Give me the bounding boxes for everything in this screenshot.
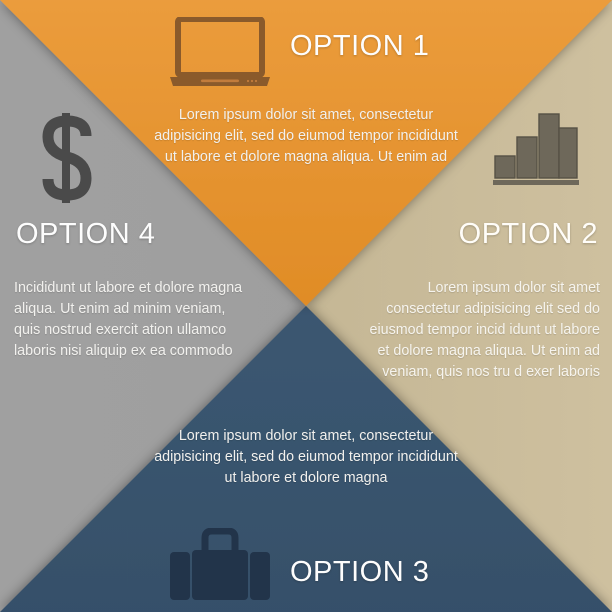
- option-3-title: OPTION 3: [290, 556, 429, 589]
- option-2-title: OPTION 2: [459, 218, 598, 251]
- option-3-body: Lorem ipsum dolor sit amet, consectetur …: [150, 426, 462, 489]
- option-1-title: OPTION 1: [290, 30, 429, 63]
- option-4-body: Incididunt ut labore et dolore magna ali…: [14, 278, 250, 362]
- option-3-panel[interactable]: Lorem ipsum dolor sit amet, consectetur …: [0, 412, 612, 612]
- laptop-icon: [168, 17, 272, 89]
- option-4-title: OPTION 4: [16, 218, 155, 251]
- bar-chart-icon: [493, 110, 579, 186]
- option-2-body: Lorem ipsum dolor sit amet consectetur a…: [364, 278, 600, 383]
- briefcase-icon: [168, 528, 272, 604]
- option-2-panel[interactable]: OPTION 2 Lorem ipsum dolor sit amet cons…: [362, 110, 612, 410]
- infographic-canvas: OPTION 1 Lorem ipsum dolor sit amet, con…: [0, 0, 612, 612]
- option-4-panel[interactable]: OPTION 4 Incididunt ut labore et dolore …: [0, 110, 250, 410]
- dollar-sign-icon: [36, 112, 98, 204]
